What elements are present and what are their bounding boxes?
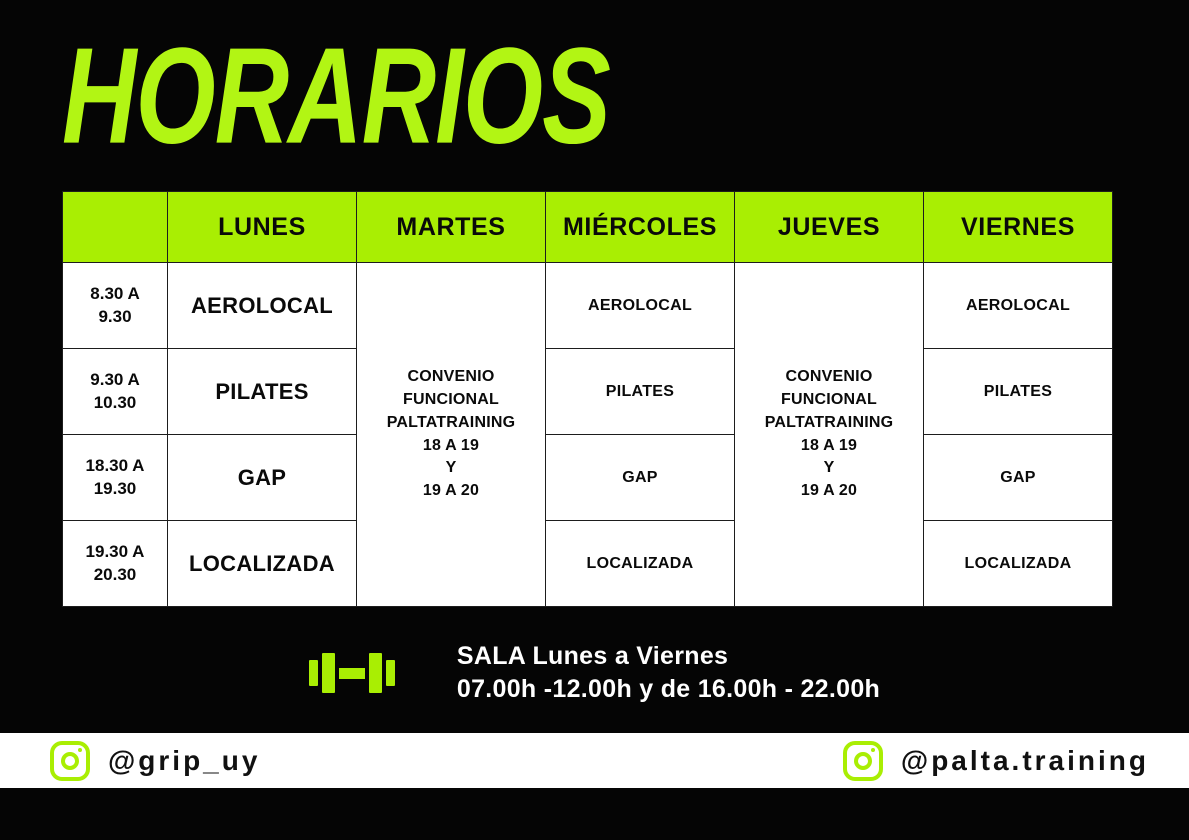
table-row: 8.30 A 9.30 AEROLOCAL CONVENIOFUNCIONALP… (63, 263, 1113, 349)
schedule-table-container: LUNES MARTES MIÉRCOLES JUEVES VIERNES 8.… (62, 191, 1112, 607)
header-lunes: LUNES (168, 192, 357, 263)
class-miercoles-2: PILATES (546, 349, 735, 435)
instagram-icon (50, 741, 90, 781)
class-lunes-4: LOCALIZADA (168, 521, 357, 607)
class-viernes-3: GAP (924, 435, 1113, 521)
social-link-grip[interactable]: @grip_uy (50, 741, 260, 781)
table-row: 18.30 A 19.30 GAP GAP GAP (63, 435, 1113, 521)
time-slot-2: 9.30 A 10.30 (63, 349, 168, 435)
header-jueves: JUEVES (735, 192, 924, 263)
class-miercoles-4: LOCALIZADA (546, 521, 735, 607)
page-title: HORARIOS (62, 28, 610, 165)
schedule-poster: HORARIOS LUNES MARTES MIÉRCOLES JUEVES V… (0, 0, 1189, 840)
class-miercoles-3: GAP (546, 435, 735, 521)
social-handle-palta: @palta.training (901, 745, 1149, 777)
table-header-row: LUNES MARTES MIÉRCOLES JUEVES VIERNES (63, 192, 1113, 263)
dumbbell-plate-inner-right (369, 653, 382, 693)
social-bar: @grip_uy @palta.training (0, 733, 1189, 788)
sala-line-2: 07.00h -12.00h y de 16.00h - 22.00h (457, 673, 880, 706)
time-slot-4-line1: 19.30 A (86, 542, 145, 561)
dumbbell-plate-inner-left (322, 653, 335, 693)
sala-text-block: SALA Lunes a Viernes 07.00h -12.00h y de… (457, 640, 880, 706)
class-martes-merged: CONVENIOFUNCIONALPALTATRAINING18 A 19Y19… (357, 263, 546, 607)
header-martes: MARTES (357, 192, 546, 263)
table-row: 19.30 A 20.30 LOCALIZADA LOCALIZADA LOCA… (63, 521, 1113, 607)
class-lunes-1: AEROLOCAL (168, 263, 357, 349)
time-slot-4-line2: 20.30 (94, 565, 137, 584)
social-handle-grip: @grip_uy (108, 745, 260, 777)
time-slot-2-line1: 9.30 A (90, 370, 139, 389)
instagram-icon (843, 741, 883, 781)
class-lunes-2: PILATES (168, 349, 357, 435)
time-slot-3-line2: 19.30 (94, 479, 137, 498)
header-corner-cell (63, 192, 168, 263)
instagram-icon-dot (78, 748, 82, 752)
dumbbell-plate-outer-right (386, 660, 395, 686)
time-slot-1-line2: 9.30 (98, 307, 131, 326)
social-link-palta[interactable]: @palta.training (843, 741, 1149, 781)
time-slot-4: 19.30 A 20.30 (63, 521, 168, 607)
time-slot-1: 8.30 A 9.30 (63, 263, 168, 349)
sala-line-1: SALA Lunes a Viernes (457, 640, 880, 673)
time-slot-2-line2: 10.30 (94, 393, 137, 412)
table-row: 9.30 A 10.30 PILATES PILATES PILATES (63, 349, 1113, 435)
class-viernes-1: AEROLOCAL (924, 263, 1113, 349)
instagram-icon-ring (61, 752, 79, 770)
time-slot-3-line1: 18.30 A (86, 456, 145, 475)
instagram-icon-dot (871, 748, 875, 752)
class-miercoles-1: AEROLOCAL (546, 263, 735, 349)
dumbbell-icon (309, 650, 395, 696)
class-viernes-2: PILATES (924, 349, 1113, 435)
instagram-icon-ring (854, 752, 872, 770)
header-miercoles: MIÉRCOLES (546, 192, 735, 263)
class-viernes-4: LOCALIZADA (924, 521, 1113, 607)
dumbbell-bar (339, 668, 365, 679)
time-slot-1-line1: 8.30 A (90, 284, 139, 303)
header-viernes: VIERNES (924, 192, 1113, 263)
sala-hours-section: SALA Lunes a Viernes 07.00h -12.00h y de… (0, 640, 1189, 706)
time-slot-3: 18.30 A 19.30 (63, 435, 168, 521)
class-lunes-3: GAP (168, 435, 357, 521)
bottom-black-strip (0, 788, 1189, 840)
class-jueves-merged: CONVENIOFUNCIONALPALTATRAINING18 A 19Y19… (735, 263, 924, 607)
schedule-table: LUNES MARTES MIÉRCOLES JUEVES VIERNES 8.… (62, 191, 1113, 607)
dumbbell-plate-outer-left (309, 660, 318, 686)
